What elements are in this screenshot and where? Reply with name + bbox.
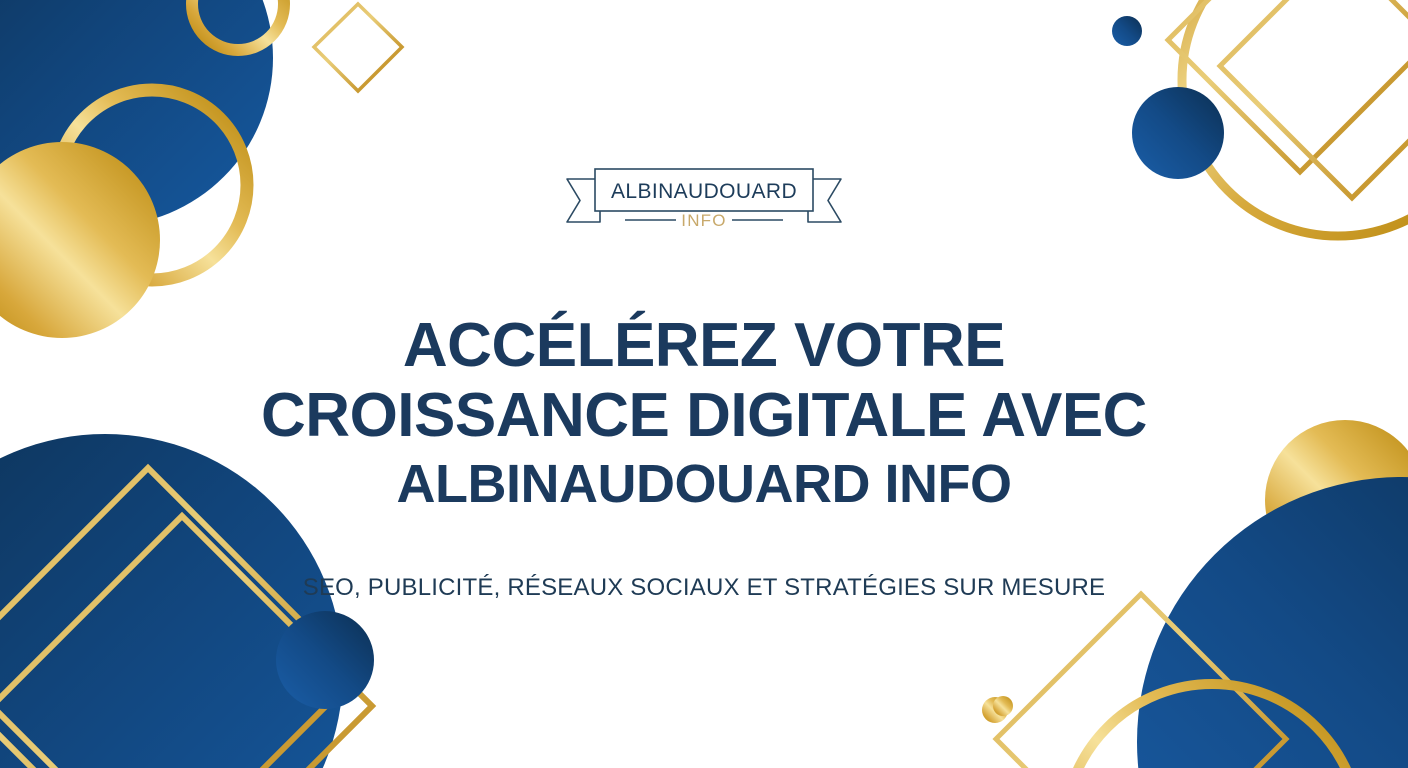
headline-line-2: CROISSANCE DIGITALE AVEC: [0, 385, 1408, 447]
subtitle: SEO, PUBLICITÉ, RÉSEAUX SOCIAUX ET STRAT…: [0, 574, 1408, 602]
brand-logo: ALBINAUDOUARD INFO: [558, 163, 850, 237]
logo-subtitle: INFO: [681, 211, 726, 230]
ribbon-banner-icon: ALBINAUDOUARD INFO: [558, 163, 850, 237]
headline-line-3: ALBINAUDOUARD INFO: [0, 457, 1408, 511]
logo-brand-name: ALBINAUDOUARD: [611, 180, 797, 203]
promo-banner: ALBINAUDOUARD INFO ACCÉLÉREZ VOTRE CROIS…: [0, 0, 1408, 768]
banner-content: ALBINAUDOUARD INFO ACCÉLÉREZ VOTRE CROIS…: [0, 0, 1408, 768]
headline-line-1: ACCÉLÉREZ VOTRE: [0, 315, 1408, 377]
headline: ACCÉLÉREZ VOTRE CROISSANCE DIGITALE AVEC…: [0, 315, 1408, 511]
